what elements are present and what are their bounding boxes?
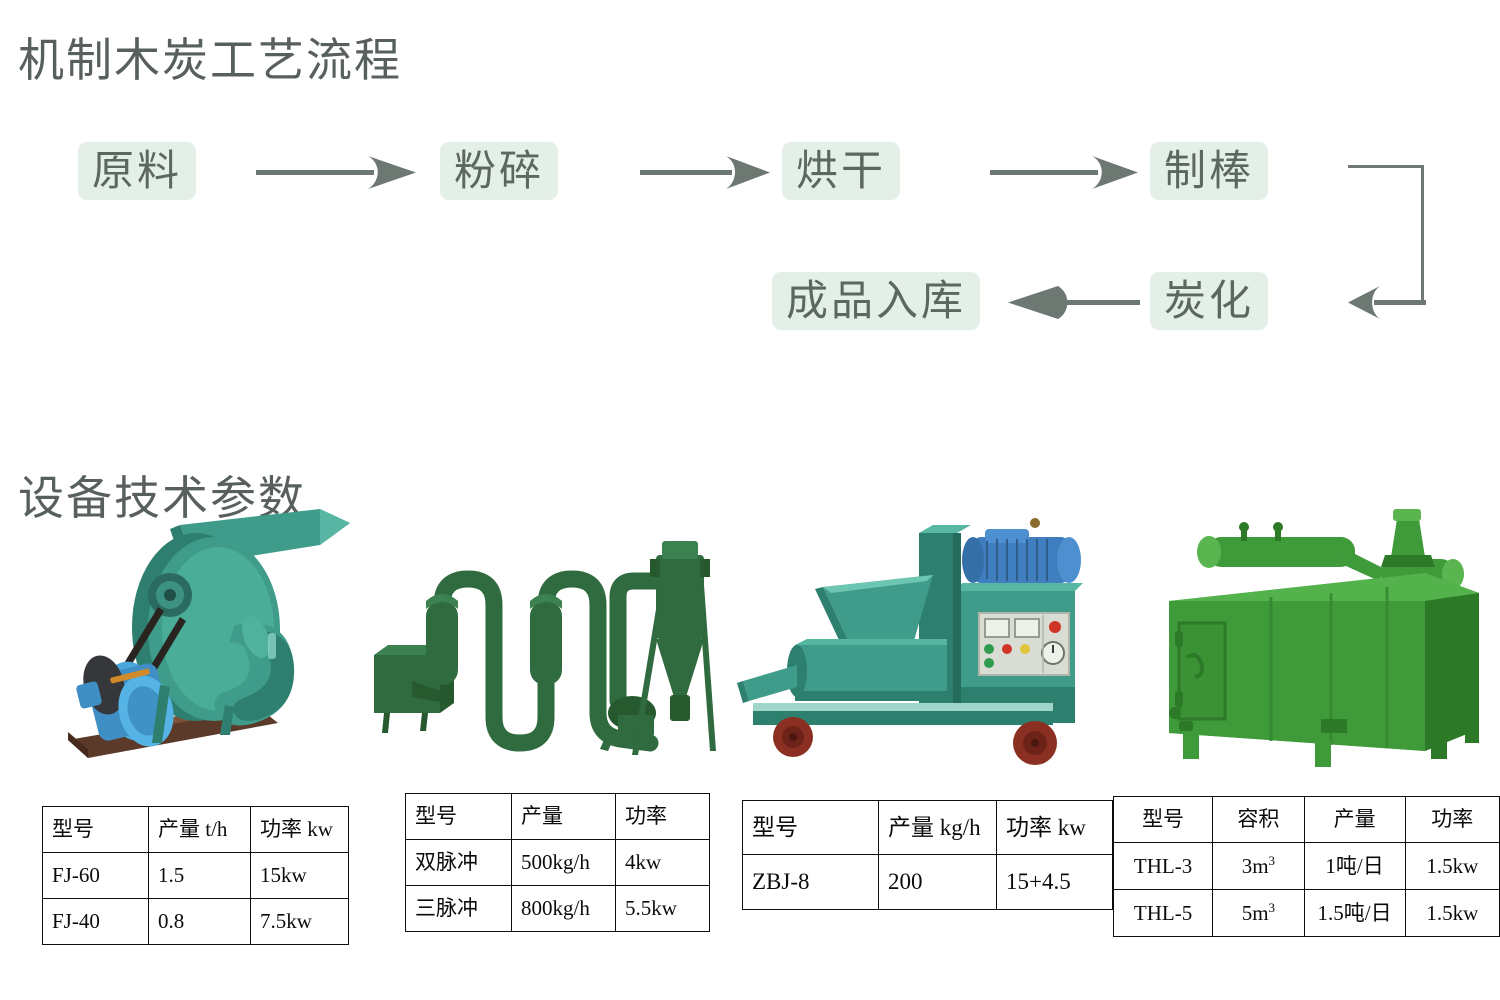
cell-power: 1.5kw (1405, 843, 1499, 890)
flow-arrow-right-1 (256, 152, 416, 192)
cell-output: 1吨/日 (1304, 843, 1405, 890)
flow-node-label: 制棒 (1164, 150, 1254, 192)
cell-model: 三脉冲 (406, 886, 512, 932)
table-row: ZBJ-8 200 15+4.5 (743, 855, 1113, 909)
equipment-photo-briquette-press (735, 505, 1095, 785)
table-header-row: 型号 产量 t/h 功率 kw (43, 807, 349, 853)
cell-power: 5.5kw (616, 886, 710, 932)
column-header: 产量 (512, 794, 616, 840)
flow-node-crushing[interactable]: 粉碎 (440, 142, 558, 200)
cell-volume: 5m3 (1213, 890, 1305, 937)
table-header-row: 型号 产量 kg/h 功率 kw (743, 801, 1113, 855)
cell-model: ZBJ-8 (743, 855, 879, 909)
cell-power: 7.5kw (251, 899, 349, 945)
flow-arrow-right-3 (990, 152, 1138, 192)
cell-output: 800kg/h (512, 886, 616, 932)
table-row: 双脉冲 500kg/h 4kw (406, 840, 710, 886)
flow-node-rod-making[interactable]: 制棒 (1150, 142, 1268, 200)
cell-output: 1.5 (149, 853, 251, 899)
flow-arrow-left-into-carbonizing (1348, 282, 1426, 322)
column-header: 容积 (1213, 797, 1305, 843)
cell-output: 1.5吨/日 (1304, 890, 1405, 937)
equipment-photo-crusher (20, 505, 380, 785)
airflow-dryer-machine-icon (360, 505, 720, 785)
spec-table-crusher: 型号 产量 t/h 功率 kw FJ-60 1.5 15kw FJ-40 0.8… (42, 806, 349, 945)
cell-power: 15+4.5 (997, 855, 1113, 909)
flow-node-label: 原料 (92, 150, 182, 192)
table-header-row: 型号 容积 产量 功率 (1114, 797, 1500, 843)
process-flow-diagram: 原料 粉碎 烘干 制棒 炭化 成品入库 (0, 120, 1500, 370)
column-header: 型号 (1114, 797, 1213, 843)
cell-model: THL-5 (1114, 890, 1213, 937)
flow-node-carbonizing[interactable]: 炭化 (1150, 272, 1268, 330)
cell-model: FJ-40 (43, 899, 149, 945)
carbonization-furnace-icon (1135, 505, 1495, 785)
table-row: FJ-60 1.5 15kw (43, 853, 349, 899)
spec-table-airflow-dryer: 型号 产量 功率 双脉冲 500kg/h 4kw 三脉冲 800kg/h 5.5… (405, 793, 710, 932)
column-header: 功率 kw (251, 807, 349, 853)
column-header: 功率 (1405, 797, 1499, 843)
flow-arrow-left-to-warehousing (1008, 282, 1140, 322)
column-header: 产量 kg/h (879, 801, 997, 855)
column-header: 功率 kw (997, 801, 1113, 855)
table-row: THL-5 5m3 1.5吨/日 1.5kw (1114, 890, 1500, 937)
flow-node-warehousing[interactable]: 成品入库 (772, 272, 980, 330)
cell-output: 200 (879, 855, 997, 909)
cell-model: THL-3 (1114, 843, 1213, 890)
equipment-photo-airflow-dryer (360, 505, 720, 785)
column-header: 产量 t/h (149, 807, 251, 853)
hammer-mill-machine-icon (20, 505, 380, 785)
briquette-press-machine-icon (735, 505, 1095, 785)
table-row: FJ-40 0.8 7.5kw (43, 899, 349, 945)
equipment-photo-carbonization-furnace (1135, 505, 1495, 785)
cell-power: 1.5kw (1405, 890, 1499, 937)
cell-volume: 3m3 (1213, 843, 1305, 890)
flow-node-label: 炭化 (1164, 280, 1254, 322)
cell-power: 15kw (251, 853, 349, 899)
cell-power: 4kw (616, 840, 710, 886)
flow-arrow-right-2 (640, 152, 770, 192)
equipment-photo-row (0, 505, 1500, 785)
cell-output: 0.8 (149, 899, 251, 945)
column-header: 型号 (743, 801, 879, 855)
cell-model: 双脉冲 (406, 840, 512, 886)
flow-node-label: 粉碎 (454, 150, 544, 192)
table-row: THL-3 3m3 1吨/日 1.5kw (1114, 843, 1500, 890)
column-header: 型号 (43, 807, 149, 853)
spec-table-carbonization-furnace: 型号 容积 产量 功率 THL-3 3m3 1吨/日 1.5kw THL-5 5… (1113, 796, 1500, 937)
flow-node-drying[interactable]: 烘干 (782, 142, 900, 200)
table-header-row: 型号 产量 功率 (406, 794, 710, 840)
cell-output: 500kg/h (512, 840, 616, 886)
column-header: 型号 (406, 794, 512, 840)
column-header: 功率 (616, 794, 710, 840)
column-header: 产量 (1304, 797, 1405, 843)
flow-node-label: 成品入库 (786, 280, 966, 322)
flow-node-label: 烘干 (796, 150, 886, 192)
page-title-process-flow: 机制木炭工艺流程 (18, 24, 402, 90)
flow-node-raw-material[interactable]: 原料 (78, 142, 196, 200)
spec-table-briquette-press: 型号 产量 kg/h 功率 kw ZBJ-8 200 15+4.5 (742, 800, 1113, 910)
table-row: 三脉冲 800kg/h 5.5kw (406, 886, 710, 932)
flow-connector-top-segment (1348, 165, 1424, 168)
cell-model: FJ-60 (43, 853, 149, 899)
